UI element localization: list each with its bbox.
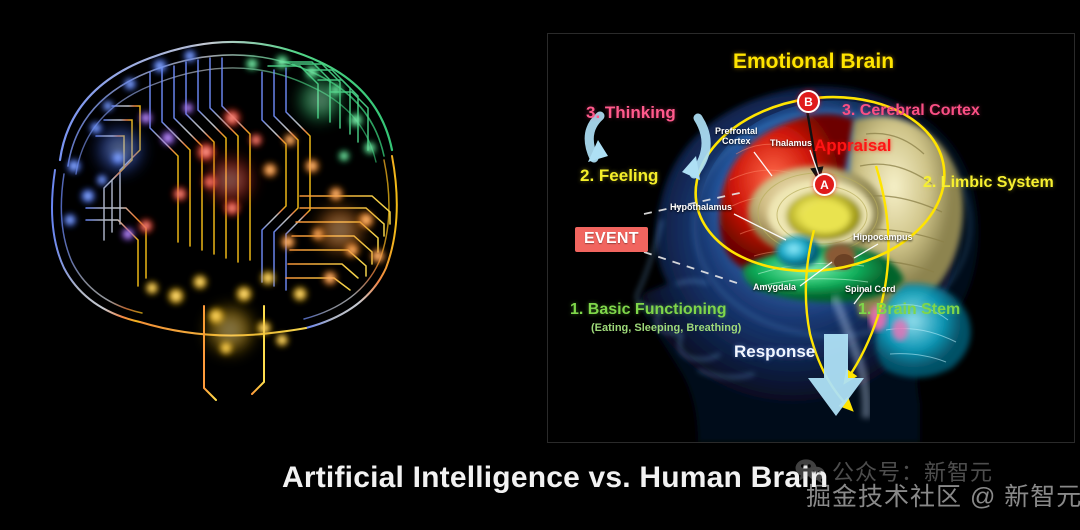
circuit-brain-svg [0,10,460,440]
label-spinal-cord: Spinal Cord [845,284,896,294]
label-basic-functioning-subtitle: (Eating, Sleeping, Breathing) [591,323,741,334]
badge-b: B [797,90,820,113]
label-amygdala: Amygdala [753,282,796,292]
label-cerebral-cortex: 3. Cerebral Cortex [842,103,980,119]
event-label: EVENT [584,230,639,247]
label-response: Response [734,343,815,360]
label-brain-stem: 1. Brain Stem [858,302,960,318]
prefrontal-cortex-line2: Cortex [715,136,758,146]
label-appraisal: Appraisal [814,137,891,154]
page-title: Artificial Intelligence vs. Human Brain [282,461,828,495]
watermark-overlay-text: 掘金技术社区 @ 新智元 [806,477,1080,513]
label-limbic-system: 2. Limbic System [923,175,1054,191]
label-feeling: 2. Feeling [580,167,658,184]
label-hypothalamus: Hypothalamus [670,202,732,212]
emotional-brain-title: Emotional Brain [733,51,894,72]
screenshot-canvas: Emotional Brain 3. Thinking 2. Feeling 1… [0,0,1080,530]
badge-a: A [813,173,836,196]
label-prefrontal-cortex: Prefrontal Cortex [715,126,758,146]
label-thalamus: Thalamus [770,138,812,148]
label-thinking: 3. Thinking [586,104,676,121]
prefrontal-cortex-line1: Prefrontal [715,126,758,136]
label-basic-functioning: 1. Basic Functioning [570,302,726,318]
label-hippocampus: Hippocampus [853,232,913,242]
emotional-brain-diagram: Emotional Brain 3. Thinking 2. Feeling 1… [547,33,1075,443]
event-badge: EVENT [575,227,648,252]
ai-circuit-brain-image [0,10,460,440]
